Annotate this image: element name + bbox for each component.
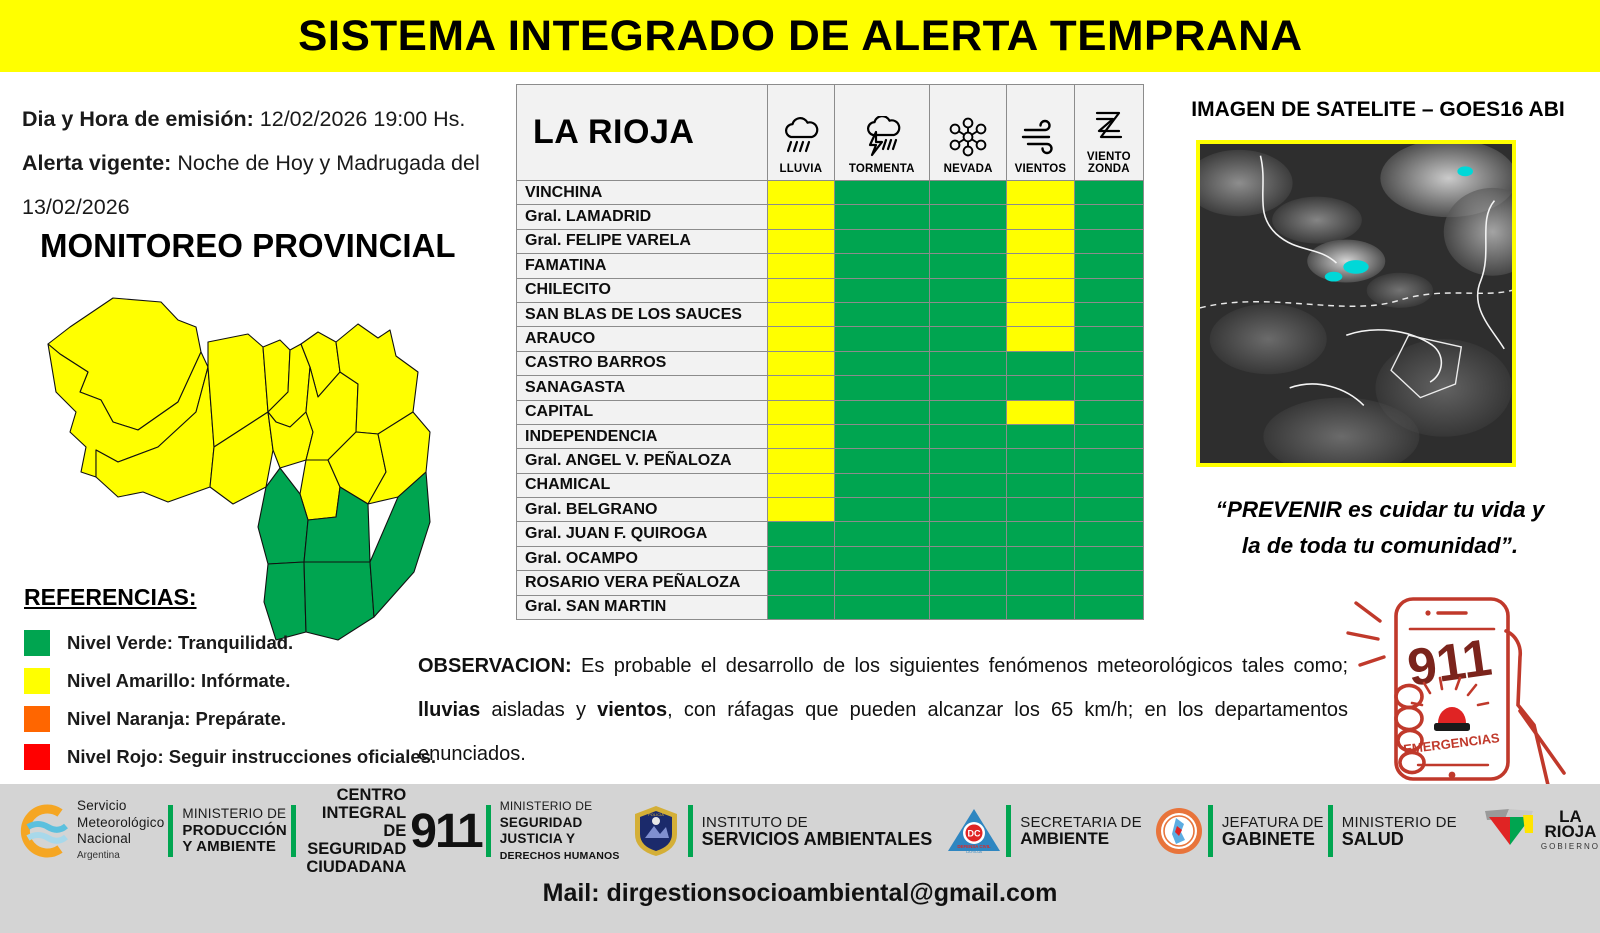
table-row: CASTRO BARROS <box>517 351 1144 375</box>
alert-cell-nevada-green <box>929 376 1006 400</box>
department-cell: CAPITAL <box>517 400 768 424</box>
legend-label-rojo: Nivel Rojo: Seguir instrucciones oficial… <box>67 746 436 768</box>
alert-cell-nevada-green <box>929 254 1006 278</box>
column-header-nevada: NEVADA <box>929 85 1006 181</box>
alert-poster: SISTEMA INTEGRADO DE ALERTA TEMPRANA Dia… <box>0 0 1600 933</box>
column-header-vientos: VIENTOS <box>1007 85 1074 181</box>
table-row: Gral. FELIPE VARELA <box>517 229 1144 253</box>
observation-part-1: Es probable el desarrollo de los siguien… <box>572 655 1348 677</box>
validity-date: 13/02/2026 <box>22 185 512 229</box>
policia-badge-icon: POLICIA <box>632 804 680 858</box>
alert-cell-tormenta-green <box>834 498 929 522</box>
alerts-table-wrap: LA RIOJA LLUVIA <box>516 84 1144 620</box>
alert-cell-zonda-green <box>1074 327 1143 351</box>
produccion-line2: PRODUCCIÓN <box>182 823 287 840</box>
logo-ministerio-produccion: MINISTERIO DE PRODUCCIÓN Y AMBIENTE <box>182 794 287 868</box>
column-header-lluvia: LLUVIA <box>768 85 834 181</box>
ambiente-line2: AMBIENTE <box>1020 831 1142 848</box>
alert-cell-tormenta-green <box>834 351 929 375</box>
cis-text: CENTRO INTEGRAL DE SEGURIDAD CIUDADANA <box>305 786 406 876</box>
department-cell: Gral. ANGEL V. PEÑALOZA <box>517 449 768 473</box>
department-name: Gral. FELIPE VARELA <box>525 232 691 249</box>
divider-4 <box>688 805 693 857</box>
alert-cell-tormenta-green <box>834 254 929 278</box>
alert-cell-vientos-yellow <box>1007 181 1074 205</box>
alert-cell-lluvia-yellow <box>768 473 834 497</box>
alert-cell-nevada-green <box>929 522 1006 546</box>
department-name: Gral. ANGEL V. PEÑALOZA <box>525 452 732 469</box>
alert-cell-nevada-green <box>929 229 1006 253</box>
alert-cell-lluvia-green <box>768 546 834 570</box>
page-title: SISTEMA INTEGRADO DE ALERTA TEMPRANA <box>298 12 1302 61</box>
legend-swatch-green <box>24 630 50 656</box>
alert-cell-lluvia-green <box>768 595 834 619</box>
alert-cell-nevada-green <box>929 498 1006 522</box>
alert-cell-tormenta-green <box>834 449 929 473</box>
legend-label-verde: Nivel Verde: Tranquilidad. <box>67 632 293 654</box>
department-name: SAN BLAS DE LOS SAUCES <box>525 306 742 323</box>
alert-cell-zonda-green <box>1074 229 1143 253</box>
alert-cell-zonda-green <box>1074 400 1143 424</box>
emission-info: Dia y Hora de emisión: 12/02/2026 19:00 … <box>22 97 512 229</box>
alert-cell-tormenta-green <box>834 595 929 619</box>
department-name: Gral. LAMADRID <box>525 208 651 225</box>
poster-title-bar: SISTEMA INTEGRADO DE ALERTA TEMPRANA <box>0 0 1600 72</box>
svg-text:POLICIA: POLICIA <box>648 812 664 817</box>
department-name: VINCHINA <box>525 184 602 201</box>
slogan: “PREVENIR es cuidar tu vida y la de toda… <box>1170 492 1590 564</box>
observation-bold-vientos: vientos <box>597 699 667 721</box>
seguridad-line4: DERECHOS HUMANOS <box>500 848 620 865</box>
produccion-text: MINISTERIO DE PRODUCCIÓN Y AMBIENTE <box>182 806 287 856</box>
validity-value: Noche de Hoy y Madrugada del <box>177 151 479 175</box>
zonda-z-icon <box>1075 100 1143 152</box>
logo-la-rioja-gobierno: LA RIOJA GOBIERNO <box>1473 794 1600 868</box>
department-cell: CHILECITO <box>517 278 768 302</box>
table-row: CHAMICAL <box>517 473 1144 497</box>
alert-cell-zonda-green <box>1074 302 1143 326</box>
rain-cloud-icon <box>768 111 833 163</box>
legend-swatch-orange <box>24 706 50 732</box>
alert-cell-vientos-green <box>1007 424 1074 448</box>
table-row: Gral. SAN MARTIN <box>517 595 1144 619</box>
alert-cell-lluvia-yellow <box>768 278 834 302</box>
smn-logo-icon <box>14 803 70 859</box>
logo-servicio-meteorologico: Servicio Meteorológico Nacional Argentin… <box>14 794 164 868</box>
alert-cell-vientos-green <box>1007 351 1074 375</box>
alert-cell-tormenta-green <box>834 181 929 205</box>
alert-cell-vientos-green <box>1007 449 1074 473</box>
alert-cell-tormenta-green <box>834 278 929 302</box>
emergency-911-illustration: 911 EMERGENCIAS <box>1338 585 1600 785</box>
monitoring-title: MONITOREO PROVINCIAL <box>40 227 510 265</box>
divider-3 <box>486 805 491 857</box>
department-cell: CASTRO BARROS <box>517 351 768 375</box>
smn-line4: Argentina <box>77 848 164 865</box>
alert-cell-tormenta-green <box>834 302 929 326</box>
table-row: CAPITAL <box>517 400 1144 424</box>
department-cell: Gral. SAN MARTIN <box>517 595 768 619</box>
table-row: Gral. BELGRANO <box>517 498 1144 522</box>
defensa-civil-icon: DC DEFENSA CIVIL LA RIOJA <box>946 807 1002 855</box>
smn-text: Servicio Meteorológico Nacional Argentin… <box>77 798 164 864</box>
alert-cell-nevada-green <box>929 571 1006 595</box>
alert-cell-zonda-green <box>1074 424 1143 448</box>
table-row: SAN BLAS DE LOS SAUCES <box>517 302 1144 326</box>
alert-cell-tormenta-green <box>834 571 929 595</box>
smn-line3: Nacional <box>77 831 164 848</box>
salud-line2: SALUD <box>1342 831 1457 848</box>
smn-line2: Meteorológico <box>77 815 164 832</box>
alert-cell-nevada-green <box>929 181 1006 205</box>
table-row: ROSARIO VERA PEÑALOZA <box>517 571 1144 595</box>
department-cell: SANAGASTA <box>517 376 768 400</box>
column-header-tormenta: TORMENTA <box>834 85 929 181</box>
snowflake-icon <box>930 111 1006 163</box>
alert-cell-zonda-green <box>1074 254 1143 278</box>
observation-bold-lluvias: lluvias <box>418 699 480 721</box>
la-rioja-text: LA RIOJA GOBIERNO <box>1541 809 1600 854</box>
seguridad-line3: JUSTICIA Y <box>500 831 620 848</box>
alert-cell-tormenta-green <box>834 522 929 546</box>
alert-cell-vientos-yellow <box>1007 278 1074 302</box>
department-name: Gral. JUAN F. QUIROGA <box>525 525 707 542</box>
alert-cell-zonda-green <box>1074 571 1143 595</box>
alert-cell-vientos-yellow <box>1007 302 1074 326</box>
department-cell: CHAMICAL <box>517 473 768 497</box>
table-row: VINCHINA <box>517 181 1144 205</box>
svg-text:DC: DC <box>968 829 981 839</box>
divider-1 <box>168 805 173 857</box>
validity-line: Alerta vigente: Noche de Hoy y Madrugada… <box>22 141 512 185</box>
department-name: SANAGASTA <box>525 379 625 396</box>
alert-cell-tormenta-green <box>834 229 929 253</box>
slogan-line-2: la de toda tu comunidad”. <box>1170 528 1590 564</box>
department-name: INDEPENDENCIA <box>525 428 657 445</box>
seguridad-line1: MINISTERIO DE <box>500 798 620 815</box>
divider-6 <box>1208 805 1213 857</box>
department-name: ROSARIO VERA PEÑALOZA <box>525 574 740 591</box>
alert-cell-tormenta-green <box>834 424 929 448</box>
seguridad-line2: SEGURIDAD <box>500 815 620 832</box>
cis-911-number: 911 <box>410 804 481 859</box>
logo-defensa-civil: DC DEFENSA CIVIL LA RIOJA SECRETARIA DE … <box>946 794 1142 868</box>
logo-instituto-servicios-ambientales: POLICIA INSTITUTO DE SERVICIOS AMBIENTAL… <box>632 794 933 868</box>
alert-cell-nevada-green <box>929 424 1006 448</box>
logo-ministerio-seguridad: MINISTERIO DE SEGURIDAD JUSTICIA Y DEREC… <box>500 794 620 868</box>
alert-cell-vientos-yellow <box>1007 229 1074 253</box>
smn-line1: Servicio <box>77 798 164 815</box>
table-header-row: LA RIOJA LLUVIA <box>517 85 1144 181</box>
legend-swatch-red <box>24 744 50 770</box>
table-row: SANAGASTA <box>517 376 1144 400</box>
legend-label-amarillo: Nivel Amarillo: Infórmate. <box>67 670 290 692</box>
department-cell: INDEPENDENCIA <box>517 424 768 448</box>
table-row: INDEPENDENCIA <box>517 424 1144 448</box>
legend-swatch-yellow <box>24 668 50 694</box>
alert-cell-lluvia-yellow <box>768 351 834 375</box>
table-row: FAMATINA <box>517 254 1144 278</box>
table-row: CHILECITO <box>517 278 1144 302</box>
alert-cell-nevada-green <box>929 205 1006 229</box>
gabinete-text: JEFATURA DE GABINETE <box>1222 815 1324 848</box>
alert-cell-nevada-green <box>929 327 1006 351</box>
cis-line3: CIUDADANA <box>305 858 406 876</box>
satellite-title: IMAGEN DE SATELITE – GOES16 ABI <box>1168 98 1588 122</box>
department-name: CHAMICAL <box>525 476 610 493</box>
alert-cell-lluvia-yellow <box>768 205 834 229</box>
alert-cell-lluvia-green <box>768 522 834 546</box>
satellite-image <box>1196 140 1516 467</box>
alert-cell-lluvia-yellow <box>768 400 834 424</box>
alert-cell-lluvia-yellow <box>768 498 834 522</box>
alert-cell-vientos-green <box>1007 546 1074 570</box>
observation-part-2: aisladas y <box>480 699 597 721</box>
column-label-nevada: NEVADA <box>930 163 1006 175</box>
department-cell: Gral. LAMADRID <box>517 205 768 229</box>
wind-icon <box>1007 111 1073 163</box>
alert-cell-vientos-green <box>1007 498 1074 522</box>
department-cell: Gral. JUAN F. QUIROGA <box>517 522 768 546</box>
department-name: Gral. BELGRANO <box>525 501 657 518</box>
alert-cell-vientos-yellow <box>1007 327 1074 351</box>
department-name: FAMATINA <box>525 257 606 274</box>
alert-cell-zonda-green <box>1074 449 1143 473</box>
column-label-tormenta: TORMENTA <box>835 163 929 175</box>
validity-label: Alerta vigente: <box>22 151 171 175</box>
department-cell: ARAUCO <box>517 327 768 351</box>
gabinete-line2: GABINETE <box>1222 831 1324 848</box>
province-header: LA RIOJA <box>517 85 768 181</box>
department-cell: ROSARIO VERA PEÑALOZA <box>517 571 768 595</box>
column-label-vientos: VIENTOS <box>1007 163 1073 175</box>
alert-cell-vientos-green <box>1007 376 1074 400</box>
seguridad-text: MINISTERIO DE SEGURIDAD JUSTICIA Y DEREC… <box>500 798 620 864</box>
footer: Servicio Meteorológico Nacional Argentin… <box>0 784 1600 933</box>
alert-cell-nevada-green <box>929 302 1006 326</box>
alert-cell-lluvia-yellow <box>768 181 834 205</box>
alert-cell-zonda-green <box>1074 205 1143 229</box>
secretaria-ambiente-text: SECRETARIA DE AMBIENTE <box>1020 815 1142 848</box>
table-row: Gral. OCAMPO <box>517 546 1144 570</box>
alerts-table: LA RIOJA LLUVIA <box>516 84 1144 620</box>
alert-cell-vientos-green <box>1007 473 1074 497</box>
alert-cell-vientos-green <box>1007 571 1074 595</box>
emission-value: 12/02/2026 19:00 Hs. <box>260 107 466 131</box>
alert-cell-lluvia-green <box>768 571 834 595</box>
references-title: REFERENCIAS: <box>24 584 494 611</box>
alert-cell-lluvia-yellow <box>768 327 834 351</box>
column-header-viento-zonda: VIENTOZONDA <box>1074 85 1143 181</box>
alert-cell-tormenta-green <box>834 400 929 424</box>
legend-label-naranja: Nivel Naranja: Prepárate. <box>67 708 286 730</box>
alert-cell-vientos-yellow <box>1007 400 1074 424</box>
department-name: Gral. SAN MARTIN <box>525 598 666 615</box>
department-name: CASTRO BARROS <box>525 354 666 371</box>
table-row: ARAUCO <box>517 327 1144 351</box>
alert-cell-lluvia-yellow <box>768 229 834 253</box>
alert-cell-nevada-green <box>929 473 1006 497</box>
alert-cell-zonda-green <box>1074 595 1143 619</box>
alert-cell-vientos-yellow <box>1007 205 1074 229</box>
observation-text: OBSERVACION: Es probable el desarrollo d… <box>418 644 1348 776</box>
logo-jefatura-gabinete: JEFATURA DE GABINETE <box>1154 794 1324 868</box>
alert-cell-zonda-green <box>1074 498 1143 522</box>
alert-cell-nevada-green <box>929 595 1006 619</box>
divider-2 <box>291 805 296 857</box>
footer-mail: Mail: dirgestionsocioambiental@gmail.com <box>0 879 1600 908</box>
table-row: Gral. ANGEL V. PEÑALOZA <box>517 449 1144 473</box>
alert-cell-vientos-green <box>1007 522 1074 546</box>
department-name: ARAUCO <box>525 330 595 347</box>
alert-cell-zonda-green <box>1074 522 1143 546</box>
alert-cell-lluvia-yellow <box>768 302 834 326</box>
alerts-table-body: VINCHINAGral. LAMADRIDGral. FELIPE VAREL… <box>517 181 1144 620</box>
divider-7 <box>1328 805 1333 857</box>
alert-cell-tormenta-green <box>834 546 929 570</box>
slogan-line-1: “PREVENIR es cuidar tu vida y <box>1170 492 1590 528</box>
department-cell: Gral. BELGRANO <box>517 498 768 522</box>
alert-cell-zonda-green <box>1074 473 1143 497</box>
alert-cell-tormenta-green <box>834 327 929 351</box>
alert-cell-zonda-green <box>1074 546 1143 570</box>
produccion-line1: MINISTERIO DE <box>182 806 287 823</box>
alert-cell-lluvia-yellow <box>768 254 834 278</box>
alert-cell-zonda-green <box>1074 181 1143 205</box>
la-rioja-flag-icon <box>1479 803 1541 859</box>
alert-cell-tormenta-green <box>834 473 929 497</box>
cis-line1: CENTRO INTEGRAL <box>305 786 406 822</box>
la-rioja-line1: LA RIOJA <box>1541 809 1600 839</box>
alert-cell-nevada-green <box>929 449 1006 473</box>
la-rioja-line2: GOBIERNO <box>1541 839 1600 854</box>
logo-ministerio-salud: MINISTERIO DE SALUD <box>1342 794 1457 868</box>
alert-cell-nevada-green <box>929 278 1006 302</box>
alert-cell-tormenta-green <box>834 376 929 400</box>
isa-text: INSTITUTO DE SERVICIOS AMBIENTALES <box>702 815 933 848</box>
column-label-lluvia: LLUVIA <box>768 163 833 175</box>
alert-cell-vientos-yellow <box>1007 254 1074 278</box>
department-cell: FAMATINA <box>517 254 768 278</box>
alert-cell-nevada-green <box>929 400 1006 424</box>
svg-text:DEFENSA CIVIL: DEFENSA CIVIL <box>958 844 992 849</box>
province-name: LA RIOJA <box>533 113 694 151</box>
isa-line2: SERVICIOS AMBIENTALES <box>702 831 933 848</box>
department-cell: SAN BLAS DE LOS SAUCES <box>517 302 768 326</box>
table-row: Gral. JUAN F. QUIROGA <box>517 522 1144 546</box>
svg-text:LA RIOJA: LA RIOJA <box>966 850 982 854</box>
cis-line2: DE SEGURIDAD <box>305 822 406 858</box>
alert-cell-zonda-green <box>1074 376 1143 400</box>
alert-cell-zonda-green <box>1074 351 1143 375</box>
emission-line: Dia y Hora de emisión: 12/02/2026 19:00 … <box>22 97 512 141</box>
table-row: Gral. LAMADRID <box>517 205 1144 229</box>
produccion-line3: Y AMBIENTE <box>182 839 287 856</box>
alert-cell-lluvia-yellow <box>768 449 834 473</box>
department-cell: Gral. OCAMPO <box>517 546 768 570</box>
department-cell: VINCHINA <box>517 181 768 205</box>
emission-label: Dia y Hora de emisión: <box>22 107 254 131</box>
footer-logo-bar: Servicio Meteorológico Nacional Argentin… <box>0 790 1600 872</box>
salud-text: MINISTERIO DE SALUD <box>1342 815 1457 848</box>
logo-centro-integral-911: CENTRO INTEGRAL DE SEGURIDAD CIUDADANA 9… <box>305 794 482 868</box>
alert-cell-lluvia-yellow <box>768 424 834 448</box>
alert-cell-nevada-green <box>929 351 1006 375</box>
alert-cell-nevada-green <box>929 546 1006 570</box>
alert-cell-vientos-green <box>1007 595 1074 619</box>
department-name: CHILECITO <box>525 281 611 298</box>
alert-cell-tormenta-green <box>834 205 929 229</box>
storm-cloud-icon <box>835 111 929 163</box>
department-name: Gral. OCAMPO <box>525 550 638 567</box>
department-name: CAPITAL <box>525 403 593 420</box>
observation-label: OBSERVACION: <box>418 655 572 677</box>
divider-5 <box>1006 805 1011 857</box>
department-cell: Gral. FELIPE VARELA <box>517 229 768 253</box>
jefatura-gabinete-icon <box>1154 806 1204 856</box>
column-label-viento-zonda: VIENTOZONDA <box>1075 152 1143 175</box>
alert-cell-lluvia-yellow <box>768 376 834 400</box>
alert-cell-zonda-green <box>1074 278 1143 302</box>
